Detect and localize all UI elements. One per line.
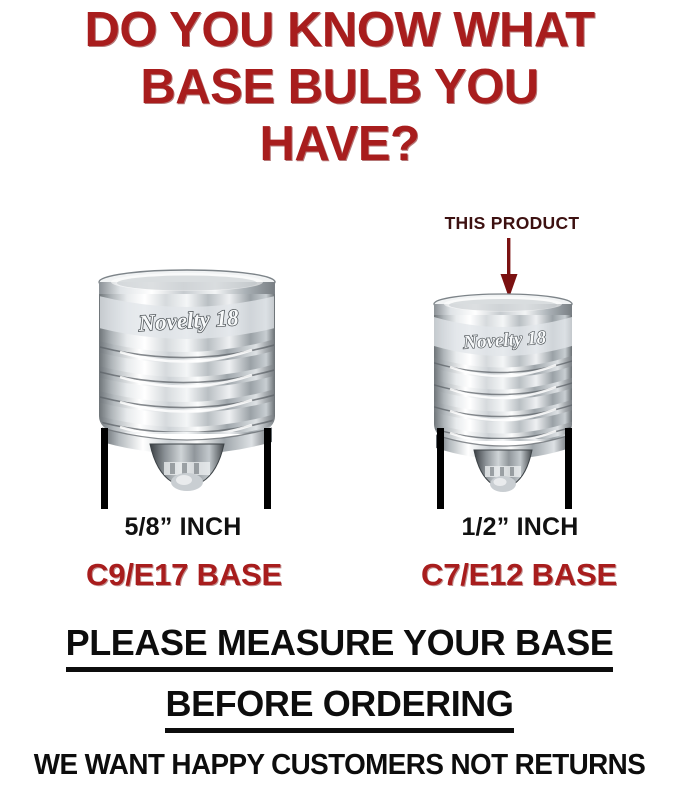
- inch-label-left: 5/8” INCH: [78, 513, 288, 542]
- footer-line-2: BEFORE ORDERING: [0, 683, 679, 733]
- headline-line-3: HAVE?: [0, 116, 679, 173]
- page-title: DO YOU KNOW WHAT BASE BULB YOU HAVE?: [0, 2, 679, 173]
- bulb-base-right-c7e12: Novelty 18: [428, 290, 578, 502]
- base-label-left: C9/E17 BASE: [58, 557, 310, 593]
- measure-bar-left-end: [264, 428, 271, 509]
- inch-label-right: 1/2” INCH: [415, 513, 625, 542]
- footer-line-2-text: BEFORE ORDERING: [165, 683, 513, 733]
- bulb-base-left-c9e17: Novelty 18: [92, 266, 282, 502]
- measure-bar-right-end: [565, 428, 572, 509]
- base-label-right: C7/E12 BASE: [393, 557, 645, 593]
- measure-bar-left-start: [101, 428, 108, 509]
- bulb-base-infographic: DO YOU KNOW WHAT BASE BULB YOU HAVE? THI…: [0, 0, 679, 786]
- down-arrow-icon: [492, 238, 526, 298]
- headline-line-2: BASE BULB YOU: [0, 59, 679, 116]
- footer-line-1-text: PLEASE MEASURE YOUR BASE: [66, 622, 614, 672]
- headline-line-1: DO YOU KNOW WHAT: [0, 2, 679, 59]
- footer-line-1: PLEASE MEASURE YOUR BASE: [0, 622, 679, 672]
- measure-bar-right-start: [437, 428, 444, 509]
- footer-line-3: WE WANT HAPPY CUSTOMERS NOT RETURNS: [14, 749, 666, 782]
- this-product-label: THIS PRODUCT: [412, 213, 612, 234]
